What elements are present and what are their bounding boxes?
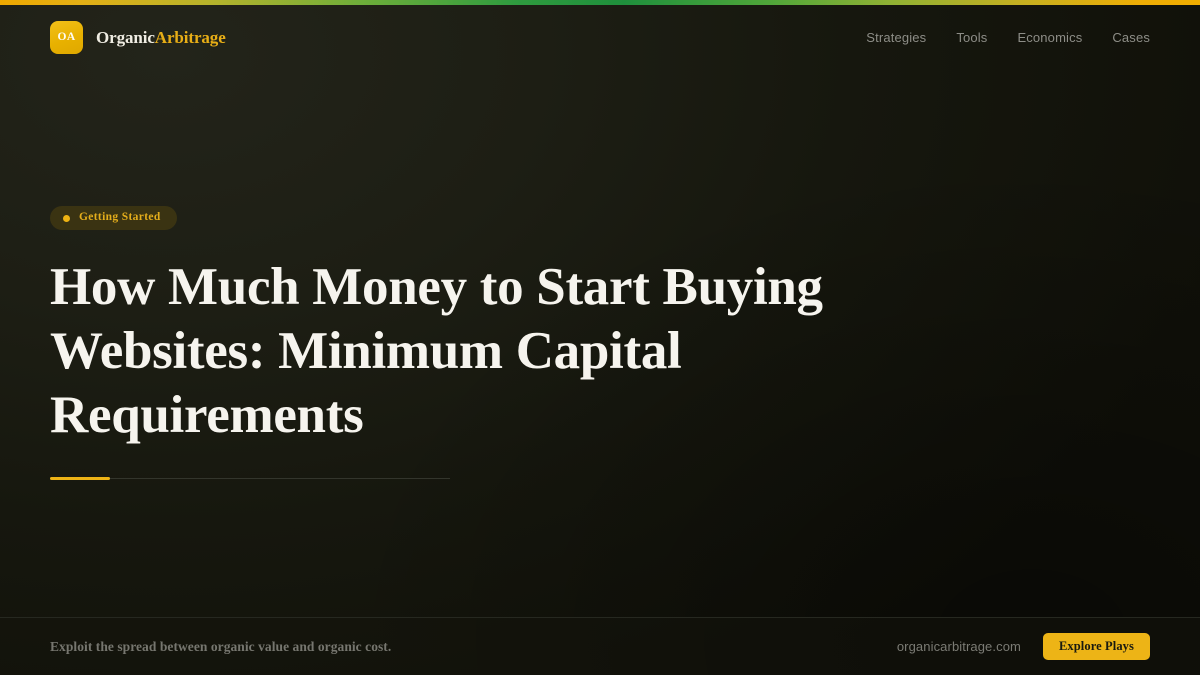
site-header: OA OrganicArbitrage Strategies Tools Eco… bbox=[0, 5, 1200, 69]
brand-word-primary: Organic bbox=[96, 28, 155, 47]
dot-icon bbox=[63, 215, 70, 222]
title-divider-line bbox=[110, 478, 450, 479]
footer-actions: organicarbitrage.com Explore Plays bbox=[897, 633, 1150, 660]
page-root: OA OrganicArbitrage Strategies Tools Eco… bbox=[0, 0, 1200, 675]
hero-content: Getting Started How Much Money to Start … bbox=[50, 206, 930, 480]
nav-item-tools[interactable]: Tools bbox=[956, 31, 987, 44]
page-title: How Much Money to Start Buying Websites:… bbox=[50, 255, 860, 447]
brand-wordmark: OrganicArbitrage bbox=[96, 29, 226, 46]
nav-item-strategies[interactable]: Strategies bbox=[866, 31, 926, 44]
explore-plays-button[interactable]: Explore Plays bbox=[1043, 633, 1150, 660]
title-divider-accent bbox=[50, 477, 110, 480]
brand-logo[interactable]: OA OrganicArbitrage bbox=[50, 21, 226, 54]
nav-item-economics[interactable]: Economics bbox=[1017, 31, 1082, 44]
main-navigation: Strategies Tools Economics Cases bbox=[866, 31, 1150, 44]
status-badge-label: Getting Started bbox=[79, 212, 161, 224]
brand-word-accent: Arbitrage bbox=[155, 28, 226, 47]
title-divider bbox=[50, 477, 450, 480]
hero-section: Getting Started How Much Money to Start … bbox=[0, 69, 1200, 617]
footer-tagline: Exploit the spread between organic value… bbox=[50, 640, 391, 654]
footer-domain-link[interactable]: organicarbitrage.com bbox=[897, 640, 1021, 653]
top-accent-gradient-bar bbox=[0, 0, 1200, 5]
status-badge: Getting Started bbox=[50, 206, 177, 230]
nav-item-cases[interactable]: Cases bbox=[1112, 31, 1150, 44]
site-footer: Exploit the spread between organic value… bbox=[0, 617, 1200, 675]
logo-monogram-icon: OA bbox=[50, 21, 83, 54]
